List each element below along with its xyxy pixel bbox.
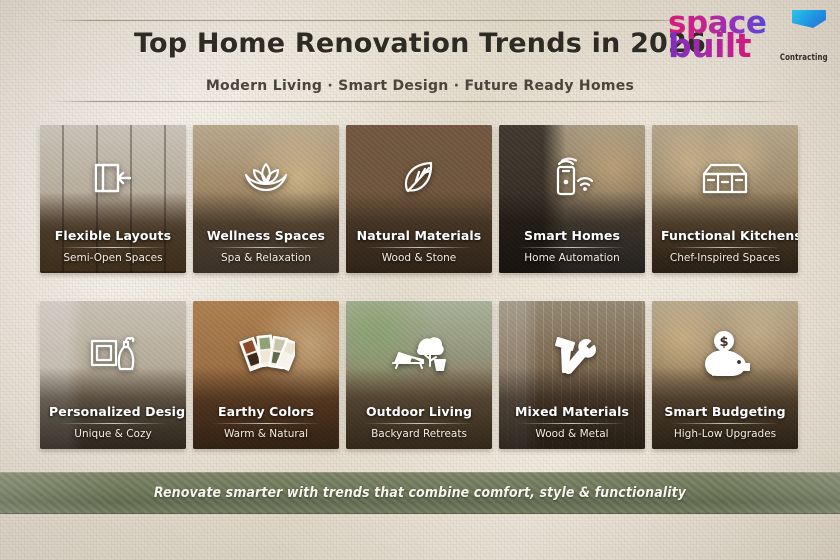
card-title: Earthy Colors xyxy=(202,404,330,419)
header-divider-top xyxy=(50,20,690,21)
layout-expand-icon xyxy=(40,149,186,207)
card-title: Wellness Spaces xyxy=(202,228,330,243)
footer-banner: Renovate smarter with trends that combin… xyxy=(0,472,840,514)
card-labels: Wellness Spaces Spa & Relaxation xyxy=(202,228,330,264)
card-subtitle: Spa & Relaxation xyxy=(202,252,330,264)
trend-card-flexible-layouts[interactable]: Flexible Layouts Semi-Open Spaces xyxy=(40,125,186,273)
card-title: Smart Budgeting xyxy=(661,404,789,419)
card-labels: Functional Kitchens Chef-Inspired Spaces xyxy=(661,228,789,264)
card-label-divider xyxy=(671,423,779,424)
logo-swoosh-icon xyxy=(792,10,826,28)
smartphone-wifi-icon xyxy=(499,149,645,207)
paint-swatches-icon xyxy=(193,325,339,383)
header-divider-bottom xyxy=(50,101,790,102)
card-subtitle: Chef-Inspired Spaces xyxy=(661,252,789,264)
card-label-divider xyxy=(365,423,473,424)
card-title: Natural Materials xyxy=(355,228,483,243)
trend-card-row-1: Flexible Layouts Semi-Open Spaces Wellne… xyxy=(40,125,798,273)
trend-card-natural-materials[interactable]: Natural Materials Wood & Stone xyxy=(346,125,492,273)
page-subtitle: Modern Living · Smart Design · Future Re… xyxy=(0,78,840,94)
lounger-tree-icon xyxy=(346,325,492,383)
card-labels: Outdoor Living Backyard Retreats xyxy=(355,404,483,440)
card-subtitle: Unique & Cozy xyxy=(49,428,177,440)
card-title: Flexible Layouts xyxy=(49,228,177,243)
lotus-flower-icon xyxy=(193,149,339,207)
footer-tagline: Renovate smarter with trends that combin… xyxy=(154,485,686,501)
card-labels: Smart Homes Home Automation xyxy=(508,228,636,264)
kitchen-island-icon xyxy=(652,149,798,207)
logo-word-built: built xyxy=(668,29,751,62)
hammer-wrench-icon xyxy=(499,325,645,383)
trend-card-mixed-materials[interactable]: Mixed Materials Wood & Metal xyxy=(499,301,645,449)
card-labels: Personalized Design Unique & Cozy xyxy=(49,404,177,440)
card-labels: Earthy Colors Warm & Natural xyxy=(202,404,330,440)
leaf-icon xyxy=(346,149,492,207)
card-subtitle: High-Low Upgrades xyxy=(661,428,789,440)
trend-card-row-2: Personalized Design Unique & Cozy xyxy=(40,301,798,449)
trend-card-personalized-design[interactable]: Personalized Design Unique & Cozy xyxy=(40,301,186,449)
card-label-divider xyxy=(671,247,779,248)
card-subtitle: Backyard Retreats xyxy=(355,428,483,440)
card-subtitle: Wood & Stone xyxy=(355,252,483,264)
card-labels: Natural Materials Wood & Stone xyxy=(355,228,483,264)
card-label-divider xyxy=(212,423,320,424)
trend-card-smart-homes[interactable]: Smart Homes Home Automation xyxy=(499,125,645,273)
trend-card-functional-kitchens[interactable]: Functional Kitchens Chef-Inspired Spaces xyxy=(652,125,798,273)
trend-card-earthy-colors[interactable]: Earthy Colors Warm & Natural xyxy=(193,301,339,449)
trend-card-smart-budgeting[interactable]: $ Smart Budgeting High-Low Upgrades xyxy=(652,301,798,449)
brand-logo: space built Contracting xyxy=(668,8,828,70)
card-subtitle: Wood & Metal xyxy=(508,428,636,440)
card-title: Personalized Design xyxy=(49,404,177,419)
card-label-divider xyxy=(518,247,626,248)
svg-text:$: $ xyxy=(719,335,728,350)
card-title: Smart Homes xyxy=(508,228,636,243)
trend-card-outdoor-living[interactable]: Outdoor Living Backyard Retreats xyxy=(346,301,492,449)
trend-card-wellness-spaces[interactable]: Wellness Spaces Spa & Relaxation xyxy=(193,125,339,273)
card-title: Outdoor Living xyxy=(355,404,483,419)
card-labels: Smart Budgeting High-Low Upgrades xyxy=(661,404,789,440)
card-labels: Flexible Layouts Semi-Open Spaces xyxy=(49,228,177,264)
card-subtitle: Semi-Open Spaces xyxy=(49,252,177,264)
logo-tagline: Contracting xyxy=(780,54,828,63)
piggy-bank-icon: $ xyxy=(652,325,798,383)
card-label-divider xyxy=(365,247,473,248)
picture-frame-vase-icon xyxy=(40,325,186,383)
card-title: Mixed Materials xyxy=(508,404,636,419)
logo-line-two: built Contracting xyxy=(668,35,828,62)
card-labels: Mixed Materials Wood & Metal xyxy=(508,404,636,440)
card-label-divider xyxy=(518,423,626,424)
infographic-poster: Top Home Renovation Trends in 2026 Moder… xyxy=(0,0,840,560)
card-label-divider xyxy=(212,247,320,248)
card-subtitle: Warm & Natural xyxy=(202,428,330,440)
card-label-divider xyxy=(59,423,167,424)
card-label-divider xyxy=(59,247,167,248)
card-title: Functional Kitchens xyxy=(661,228,789,243)
card-subtitle: Home Automation xyxy=(508,252,636,264)
